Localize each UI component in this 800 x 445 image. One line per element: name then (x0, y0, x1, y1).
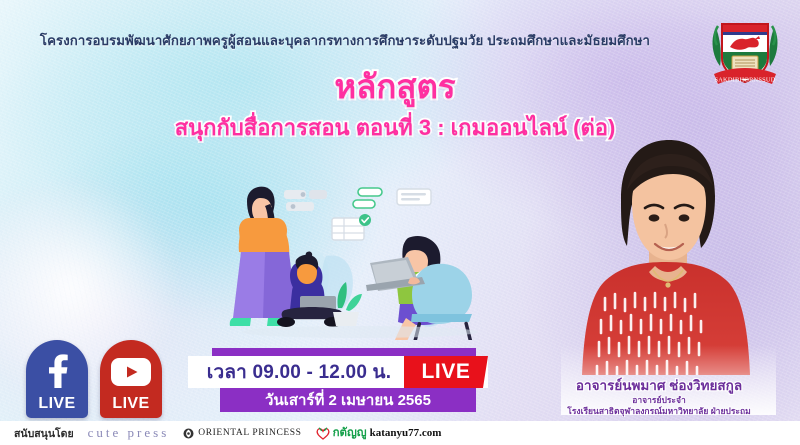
program-header-text: โครงการอบรมพัฒนาศักยภาพครูผู้สอนและบุคลา… (0, 30, 800, 51)
online-learning-illustration (120, 160, 500, 340)
youtube-live-label: LIVE (112, 396, 149, 412)
time-row: เวลา 09.00 - 12.00 น. LIVE (188, 356, 488, 388)
katanyu-url-text: katanyu77.com (370, 427, 442, 439)
youtube-play-icon (100, 358, 162, 386)
sponsor-oriental-princess[interactable]: ORIENTAL PRINCESS (183, 428, 301, 439)
schedule-panel: เวลา 09.00 - 12.00 น. LIVE วันเสาร์ที่ 2… (188, 348, 488, 414)
crest-banner-text: SAKDIBHORNSSUD (714, 77, 775, 84)
event-date-text: วันเสาร์ที่ 2 เมษายน 2565 (220, 388, 476, 412)
facebook-live-label: LIVE (38, 396, 75, 412)
facebook-live-badge[interactable]: LIVE (26, 340, 88, 418)
live-status-badge: LIVE (404, 356, 488, 388)
page-title: หลักสูตร (0, 70, 800, 103)
speaker-info: อาจารย์นพมาศ ช่องวิทยสกูล อาจารย์ประจำ โ… (524, 378, 794, 416)
speaker-portrait (561, 130, 776, 415)
oriental-princess-icon (183, 428, 194, 439)
illustration-seated-woman (366, 236, 474, 340)
purple-accent-bar-top (212, 348, 476, 356)
sponsor-footer: สนับสนุนโดย cute press ORIENTAL PRINCESS… (0, 421, 800, 445)
event-time-text: เวลา 09.00 - 12.00 น. (188, 357, 404, 387)
sponsor-katanyu[interactable]: กตัญญู katanyu77.com (316, 424, 442, 442)
facebook-icon (26, 352, 88, 388)
speaker-organization: โรงเรียนสาธิตจุฬาลงกรณ์มหาวิทยาลัย ฝ่ายป… (524, 406, 794, 416)
speaker-name: อาจารย์นพมาศ ช่องวิทยสกูล (524, 378, 794, 394)
youtube-live-badge[interactable]: LIVE (100, 340, 162, 418)
katanyu-heart-icon (316, 427, 330, 440)
live-event-poster: โครงการอบรมพัฒนาศักยภาพครูผู้สอนและบุคลา… (0, 0, 800, 445)
sponsor-label: สนับสนุนโดย (14, 425, 74, 442)
oriental-princess-text: ORIENTAL PRINCESS (198, 428, 301, 438)
speaker-role: อาจารย์ประจำ (524, 395, 794, 405)
sponsor-cute-press[interactable]: cute press (88, 425, 170, 441)
katanyu-thai-text: กตัญญู (333, 424, 367, 442)
sakdibhornssud-crest-icon: SAKDIBHORNSSUD (706, 12, 784, 94)
